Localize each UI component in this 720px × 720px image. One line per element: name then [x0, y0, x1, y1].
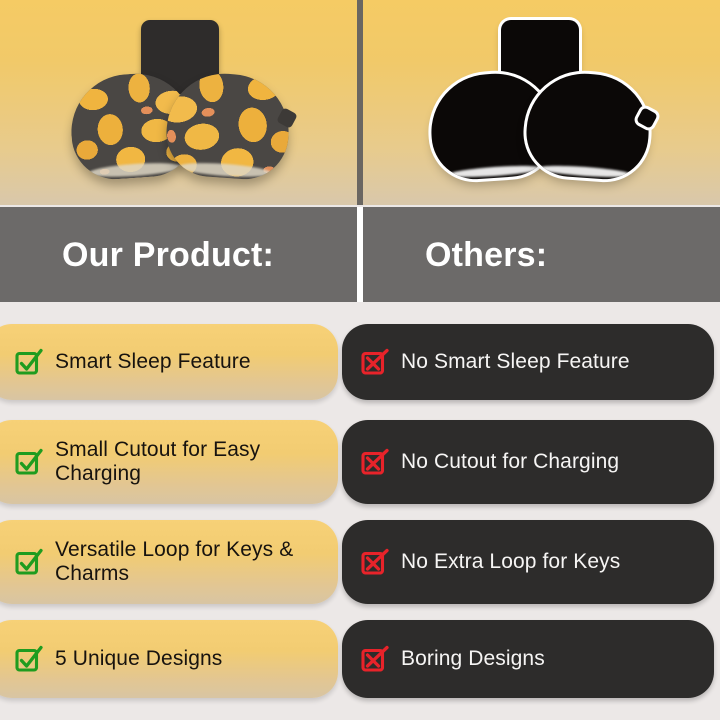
red-cross-box-icon	[360, 447, 390, 477]
header-others: Others:	[363, 207, 720, 302]
green-check-box-icon	[14, 644, 44, 674]
comparison-infographic: Our Product: Others: Smart Sleep Feature	[0, 0, 720, 720]
comparison-row: Small Cutout for Easy Charging No Cutout…	[0, 420, 720, 504]
our-feature-pill: 5 Unique Designs	[0, 620, 338, 698]
green-check-box-icon	[14, 547, 44, 577]
hero-cell-others	[360, 0, 720, 205]
feature-comparison-list: Smart Sleep Feature No Smart Sleep Featu…	[0, 302, 720, 720]
column-headers: Our Product: Others:	[0, 207, 720, 302]
comparison-row: 5 Unique Designs Boring Designs	[0, 620, 720, 698]
our-feature-label: Versatile Loop for Keys & Charms	[55, 538, 324, 587]
our-product-title: Our Product:	[62, 238, 274, 272]
red-cross-box-icon	[360, 547, 390, 577]
hero-cell-our-product	[0, 0, 360, 205]
pillow-right-lobe	[164, 69, 293, 181]
red-cross-box-icon	[360, 644, 390, 674]
other-feature-pill: No Extra Loop for Keys	[342, 520, 714, 604]
green-check-box-icon	[14, 347, 44, 377]
our-feature-pill: Smart Sleep Feature	[0, 324, 338, 400]
others-neck-pillow-image	[435, 18, 645, 188]
comparison-row: Smart Sleep Feature No Smart Sleep Featu…	[0, 324, 720, 400]
red-cross-box-icon	[360, 347, 390, 377]
other-feature-pill: Boring Designs	[342, 620, 714, 698]
our-feature-label: 5 Unique Designs	[55, 647, 222, 671]
pillow-inner-edge	[449, 163, 542, 178]
hero-product-images	[0, 0, 720, 205]
header-our-product: Our Product:	[0, 207, 357, 302]
other-feature-pill: No Cutout for Charging	[342, 420, 714, 504]
other-feature-label: No Cutout for Charging	[401, 450, 619, 474]
other-feature-label: No Smart Sleep Feature	[401, 350, 630, 374]
our-feature-label: Smart Sleep Feature	[55, 350, 251, 374]
our-feature-label: Small Cutout for Easy Charging	[55, 438, 324, 487]
others-title: Others:	[425, 238, 547, 272]
our-feature-pill: Small Cutout for Easy Charging	[0, 420, 338, 504]
our-product-neck-pillow-image	[75, 18, 285, 188]
pillow-inner-edge	[538, 163, 631, 178]
other-feature-pill: No Smart Sleep Feature	[342, 324, 714, 400]
other-feature-label: Boring Designs	[401, 647, 545, 671]
green-check-box-icon	[14, 447, 44, 477]
our-feature-pill: Versatile Loop for Keys & Charms	[0, 520, 338, 604]
other-feature-label: No Extra Loop for Keys	[401, 550, 620, 574]
comparison-row: Versatile Loop for Keys & Charms No Extr…	[0, 520, 720, 604]
hero-vertical-divider	[357, 0, 363, 205]
